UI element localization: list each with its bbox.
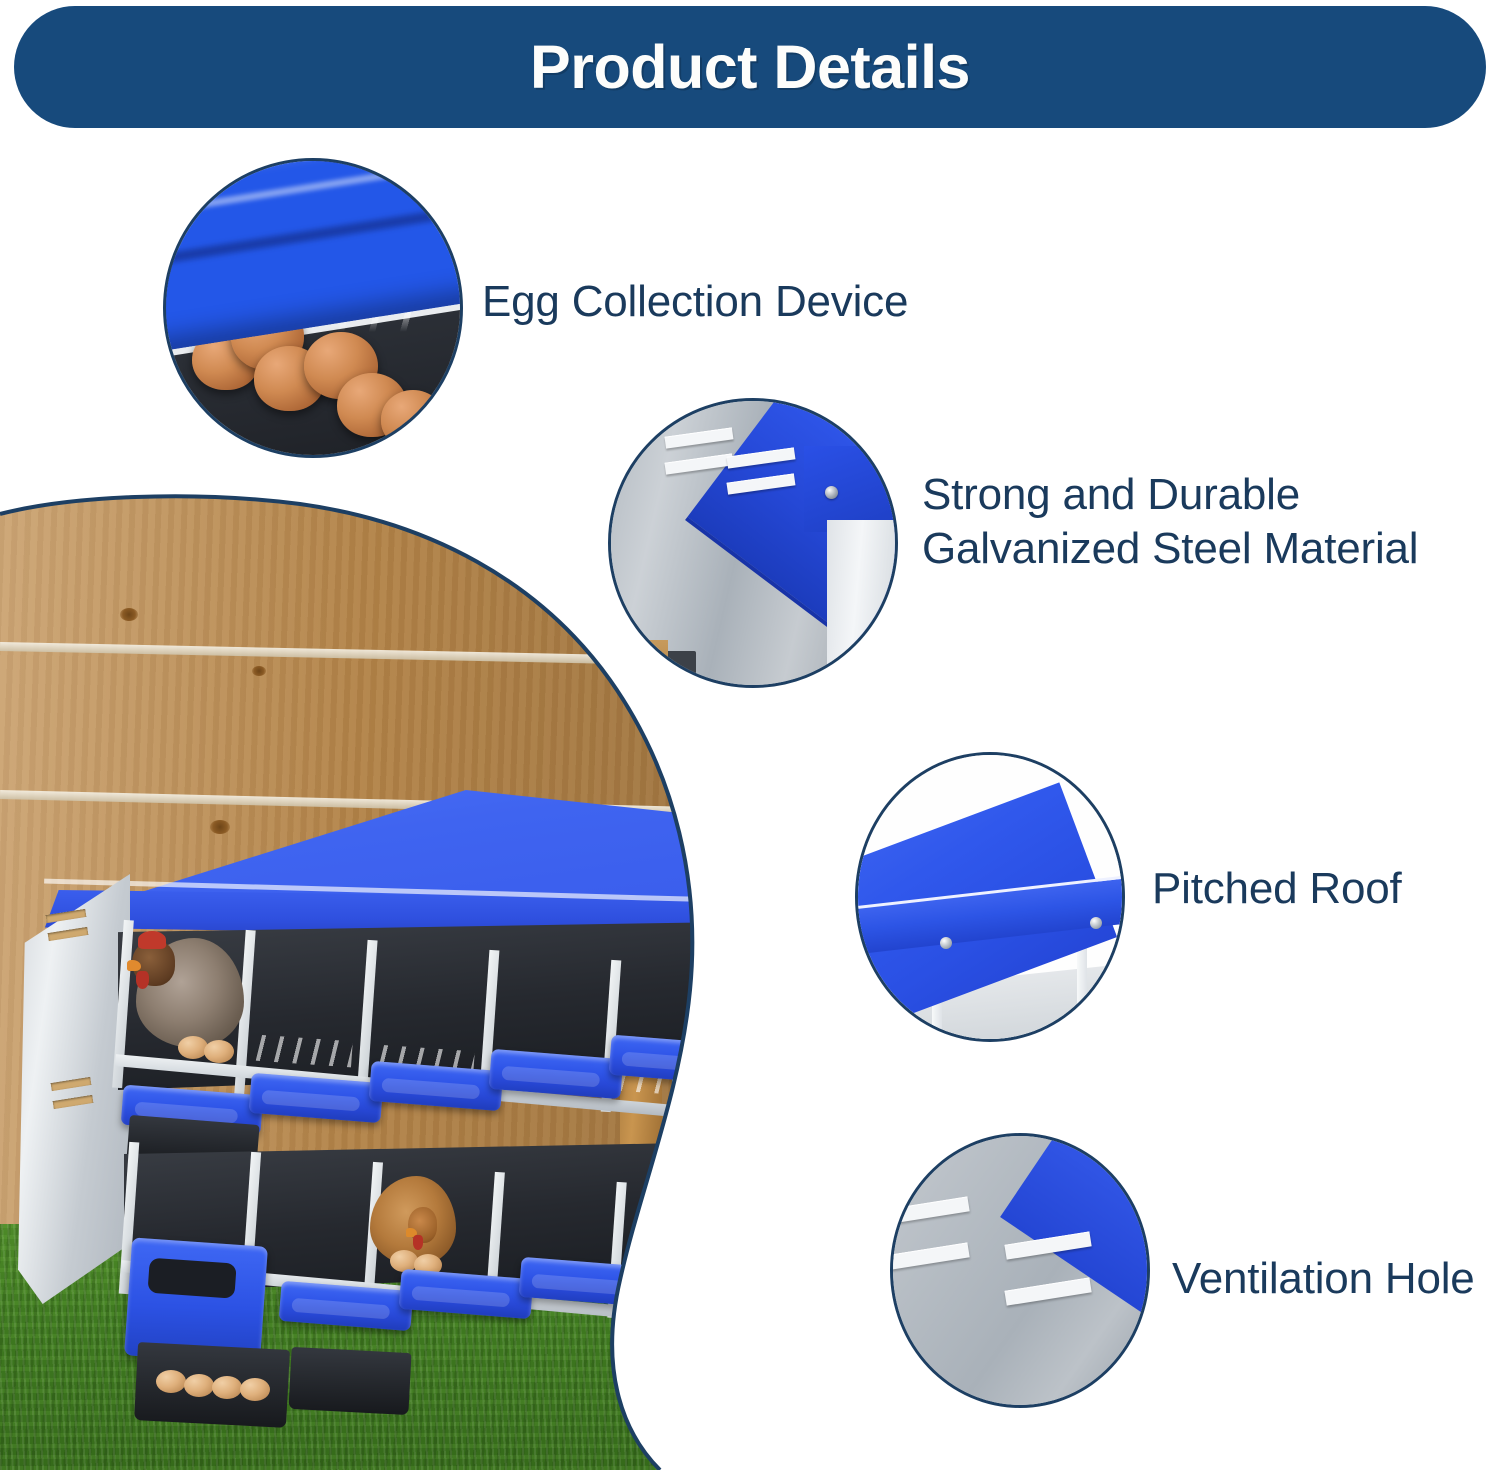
hen-upper <box>136 938 244 1048</box>
feature-label-galvanized-steel-material: Strong and Durable Galvanized Steel Mate… <box>922 468 1482 575</box>
concrete-foundation <box>672 1054 790 1234</box>
feature-label-ventilation-hole: Ventilation Hole <box>1172 1252 1500 1306</box>
feature-image-egg-collection-device <box>163 158 463 458</box>
page-title: Product Details <box>530 32 970 102</box>
chicken-nesting-box <box>18 790 758 1430</box>
egg-collection-bin <box>288 1347 411 1415</box>
egg-tray-icon <box>166 161 460 455</box>
infographic-root: Product Details Egg Collection Device <box>0 0 1500 1470</box>
perch-flap <box>639 1243 780 1294</box>
page-header-banner: Product Details <box>14 6 1486 128</box>
feature-label-pitched-roof: Pitched Roof <box>1152 862 1492 916</box>
pitched-roof-icon <box>858 755 1122 1039</box>
nesting-box-side-panel <box>18 874 130 1304</box>
main-product-photo-clip <box>0 490 790 1470</box>
ventilation-slots-icon <box>893 1136 1147 1405</box>
main-product-photo <box>0 490 790 1470</box>
feature-image-ventilation-hole <box>890 1133 1150 1408</box>
feature-label-egg-collection-device: Egg Collection Device <box>482 275 1002 329</box>
feature-image-pitched-roof <box>855 752 1125 1042</box>
